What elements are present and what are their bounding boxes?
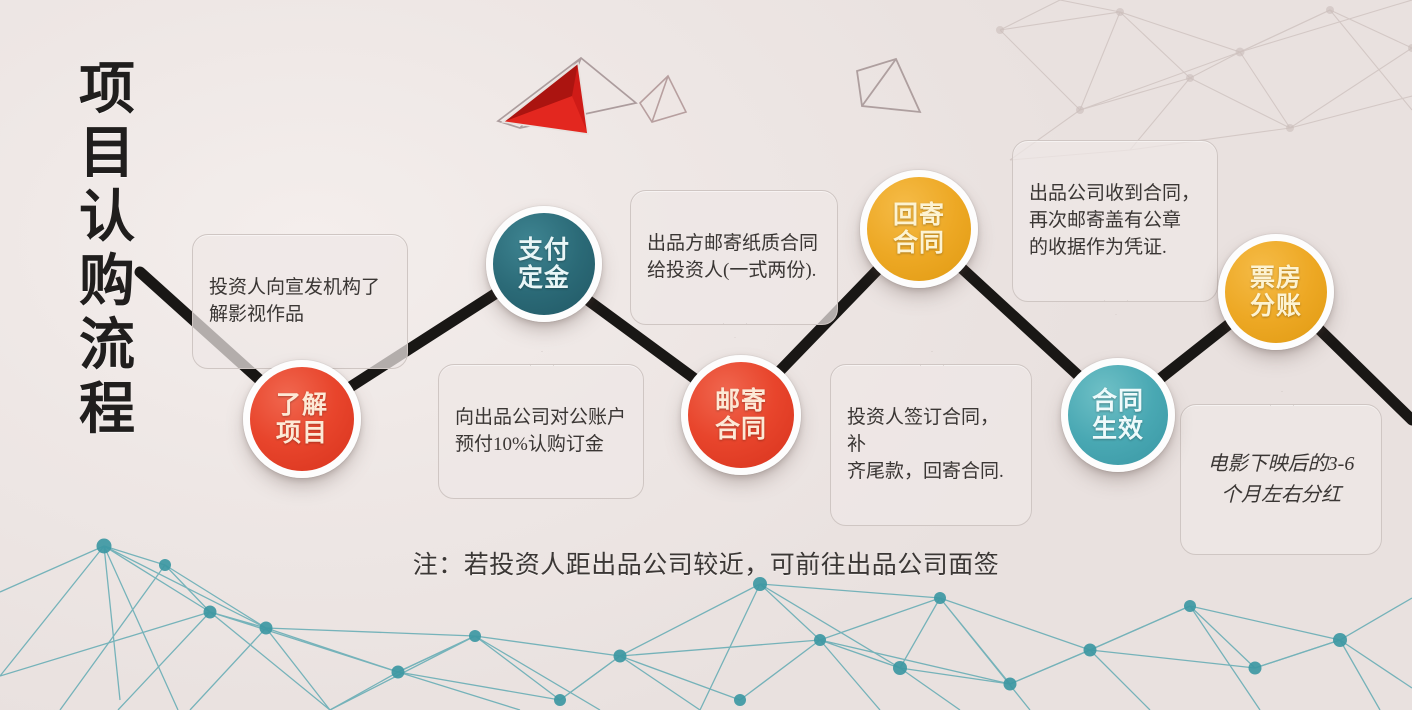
page-title-char-2: 目: [79, 126, 135, 182]
paper-plane-outline-small: [640, 76, 686, 122]
step-node-label: 邮寄 合同: [715, 387, 767, 444]
callout-tail: [530, 351, 554, 366]
step-node-pay-deposit[interactable]: 支付 定金: [486, 206, 602, 322]
page-title-char-4: 购: [79, 254, 135, 310]
step-node-contract-effective[interactable]: 合同 生效: [1061, 358, 1175, 472]
infographic-canvas: 项 目 认 购 流 程 了解 项目 支付 定金 邮寄 合同 回寄 合同 合同 生…: [0, 0, 1412, 710]
callout-tail: [1270, 391, 1294, 406]
callout-tail: [920, 351, 944, 366]
step-node-label: 回寄 合同: [893, 201, 945, 258]
paper-plane-outline-right: [857, 59, 920, 112]
page-title: 项 目 认 购 流 程: [52, 62, 162, 438]
callout-text: 电影下映后的3-6 个月左右分红: [1208, 453, 1355, 506]
step-node-label: 支付 定金: [518, 236, 570, 293]
callout-box-office-split: 电影下映后的3-6 个月左右分红: [1180, 404, 1382, 555]
step-node-box-office-split[interactable]: 票房 分账: [1218, 234, 1334, 350]
callout-contract-effective: 出品公司收到合同， 再次邮寄盖有公章 的收据作为凭证.: [1012, 140, 1218, 302]
callout-pay-deposit: 向出品公司对公账户 预付10%认购订金: [438, 364, 644, 499]
step-node-understand-project[interactable]: 了解 项目: [243, 360, 361, 478]
page-title-char-3: 认: [79, 190, 135, 246]
page-title-char-6: 程: [79, 382, 135, 438]
callout-understand-project: 投资人向宣发机构了 解影视作品: [192, 234, 408, 369]
callout-return-contract: 投资人签订合同，补 齐尾款，回寄合同.: [830, 364, 1032, 526]
step-node-label: 票房 分账: [1250, 264, 1302, 321]
step-node-label: 合同 生效: [1092, 387, 1144, 444]
callout-text: 投资人向宣发机构了 解影视作品: [209, 277, 380, 325]
page-title-char-1: 项: [79, 62, 135, 118]
paper-plane-red: [503, 63, 588, 134]
callout-mail-contract: 出品方邮寄纸质合同 给投资人(一式两份).: [630, 190, 838, 325]
callout-tail: [723, 323, 747, 338]
step-node-mail-contract[interactable]: 邮寄 合同: [681, 355, 801, 475]
page-title-char-5: 流: [79, 318, 135, 374]
callout-text: 向出品公司对公账户 预付10%认购订金: [455, 407, 626, 455]
callout-tail: [1104, 300, 1128, 315]
callout-text: 出品方邮寄纸质合同 给投资人(一式两份).: [647, 233, 818, 281]
step-node-return-contract[interactable]: 回寄 合同: [860, 170, 978, 288]
callout-text: 出品公司收到合同， 再次邮寄盖有公章 的收据作为凭证.: [1029, 183, 1200, 258]
step-node-label: 了解 项目: [276, 391, 328, 448]
paper-plane-outline: [498, 58, 636, 128]
callout-text: 投资人签订合同，补 齐尾款，回寄合同.: [847, 407, 1004, 482]
footnote: 注：若投资人距出品公司较近，可前往出品公司面签: [0, 545, 1412, 581]
